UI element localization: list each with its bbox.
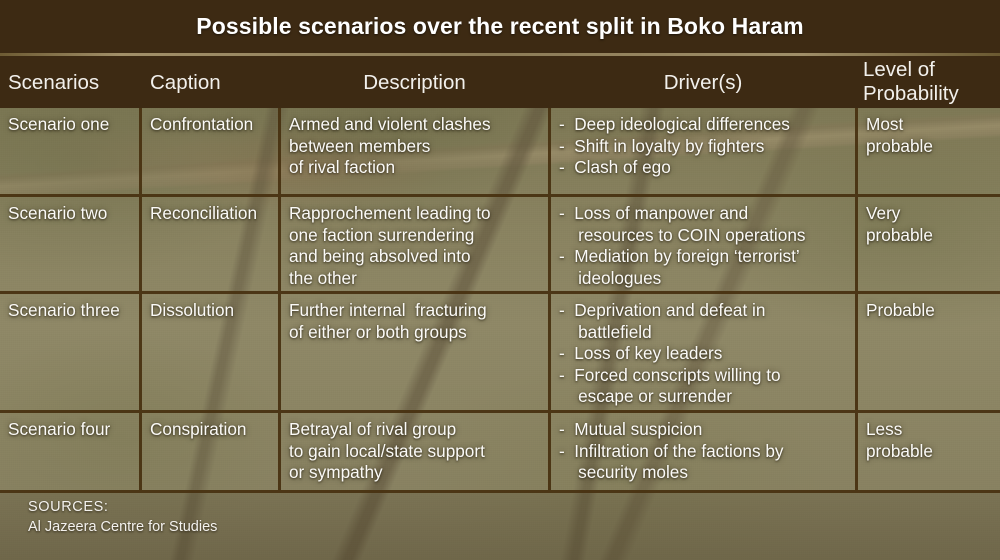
grid-vline: [278, 294, 281, 410]
scenarios-table: Scenario one Confrontation Armed and vio…: [0, 108, 1000, 490]
sources-label: SOURCES:: [28, 499, 109, 515]
grid-vline: [548, 197, 551, 291]
table-header-row: Scenarios Caption Description Driver(s) …: [0, 56, 1000, 108]
column-header-description: Description: [281, 56, 548, 108]
column-header-caption: Caption: [150, 56, 280, 108]
grid-vline: [278, 413, 281, 490]
grid-vline: [278, 108, 281, 194]
cell-probability: Probable: [858, 294, 1000, 410]
grid-vline: [139, 413, 142, 490]
cell-drivers: - Deprivation and defeat in battlefield …: [551, 294, 855, 410]
cell-probability: Very probable: [858, 197, 1000, 291]
cell-caption: Reconciliation: [142, 197, 278, 291]
title-bar: Possible scenarios over the recent split…: [0, 0, 1000, 53]
grid-vline: [855, 294, 858, 410]
cell-drivers: - Loss of manpower and resources to COIN…: [551, 197, 855, 291]
cell-scenario: Scenario one: [0, 108, 139, 194]
cell-description: Betrayal of rival group to gain local/st…: [281, 413, 548, 490]
cell-description: Rapprochement leading to one faction sur…: [281, 197, 548, 291]
cell-description: Armed and violent clashes between member…: [281, 108, 548, 194]
grid-vline: [548, 294, 551, 410]
grid-vline: [278, 197, 281, 291]
cell-scenario: Scenario four: [0, 413, 139, 490]
grid-vline: [548, 413, 551, 490]
cell-drivers: - Deep ideological differences - Shift i…: [551, 108, 855, 194]
table-row[interactable]: Scenario three Dissolution Further inter…: [0, 294, 1000, 410]
grid-vline: [139, 197, 142, 291]
cell-caption: Dissolution: [142, 294, 278, 410]
grid-vline: [855, 108, 858, 194]
page-title: Possible scenarios over the recent split…: [196, 13, 803, 40]
grid-vline: [855, 197, 858, 291]
cell-drivers: - Mutual suspicion - Infiltration of the…: [551, 413, 855, 490]
column-header-drivers: Driver(s): [551, 56, 855, 108]
column-header-probability: Level of Probability: [863, 56, 1000, 108]
cell-scenario: Scenario two: [0, 197, 139, 291]
table-row[interactable]: Scenario one Confrontation Armed and vio…: [0, 108, 1000, 194]
cell-description: Further internal fracturing of either or…: [281, 294, 548, 410]
grid-vline: [855, 413, 858, 490]
cell-caption: Confrontation: [142, 108, 278, 194]
grid-vline: [139, 108, 142, 194]
footer: SOURCES: Al Jazeera Centre for Studies: [0, 493, 1000, 560]
column-header-scenarios: Scenarios: [8, 56, 140, 108]
table-row[interactable]: Scenario four Conspiration Betrayal of r…: [0, 413, 1000, 490]
cell-caption: Conspiration: [142, 413, 278, 490]
infographic-frame: Possible scenarios over the recent split…: [0, 0, 1000, 560]
table-row[interactable]: Scenario two Reconciliation Rapprochemen…: [0, 197, 1000, 291]
grid-vline: [548, 108, 551, 194]
grid-vline: [139, 294, 142, 410]
cell-probability: Most probable: [858, 108, 1000, 194]
cell-probability: Less probable: [858, 413, 1000, 490]
sources-value: Al Jazeera Centre for Studies: [28, 519, 217, 535]
cell-scenario: Scenario three: [0, 294, 139, 410]
